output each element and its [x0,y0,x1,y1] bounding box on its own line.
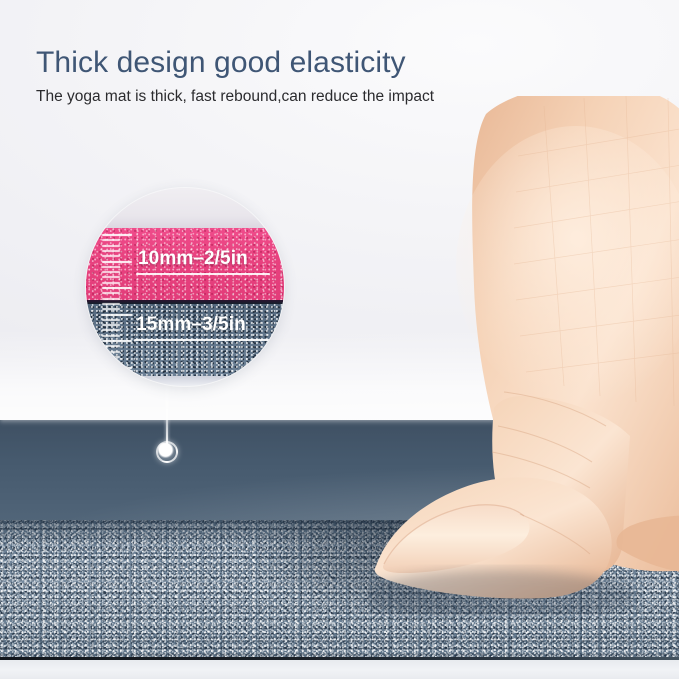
thickness-magnifier-inset: 10mm–2/5in 15mm–3/5in [86,188,284,386]
ruler-tick [102,314,132,316]
ruler-tick [102,329,120,331]
ruler-scale [102,234,136,372]
ruler-tick [102,308,120,310]
ruler-tick [102,319,120,321]
inset-background-wall [86,188,284,228]
page-title: Thick design good elasticity [36,46,434,80]
inset-floor [86,376,284,386]
ruler-tick [102,335,120,337]
page-subtitle: The yoga mat is thick, fast rebound,can … [36,87,434,106]
ruler-tick [102,239,120,241]
ruler-tick [102,271,120,273]
pressing-hand [368,96,679,616]
ruler-tick [102,340,132,342]
gray-layer-underline [134,339,270,341]
ruler-tick [102,276,120,278]
floor-strip [0,660,679,679]
ruler-tick [102,266,120,268]
product-feature-image: Thick design good elasticity The yoga ma… [0,0,679,679]
ruler-tick [102,287,132,289]
callout-pointer-dot [156,441,178,463]
ruler-tick [102,245,120,247]
callout-leader-line [166,382,168,444]
pink-layer-underline [136,273,270,275]
ruler-tick [102,345,120,347]
ruler-tick [102,250,120,252]
ruler-tick [102,234,132,236]
ruler-tick [102,356,120,358]
ruler-tick [102,298,120,300]
gray-layer-measurement-label: 15mm–3/5in [136,314,246,336]
ruler-tick [102,351,120,353]
ruler-tick [102,361,120,363]
ruler-tick [102,255,120,257]
ruler-tick [102,292,120,294]
ruler-tick [102,282,120,284]
ruler-tick [102,324,120,326]
pink-layer-measurement-label: 10mm–2/5in [138,248,248,270]
ruler-tick [102,303,120,305]
heading-block: Thick design good elasticity The yoga ma… [36,46,434,106]
ruler-tick [102,367,132,369]
ruler-tick [102,261,132,263]
